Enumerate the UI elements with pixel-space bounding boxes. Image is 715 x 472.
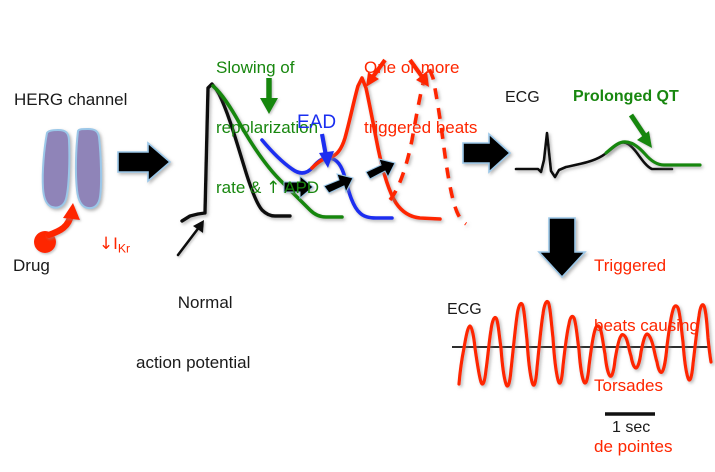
scale-bar-label: 1 sec bbox=[612, 419, 650, 438]
slowing-line-3-pre: rate & bbox=[216, 178, 266, 197]
normal-ap-pointer-icon bbox=[178, 220, 204, 255]
ikr-down-arrow-glyph: ↓ bbox=[99, 234, 113, 254]
herg-channel-icon bbox=[43, 129, 101, 208]
ead-arrow-icon bbox=[319, 134, 334, 168]
torsades-caption-line-4: de pointes bbox=[594, 437, 699, 457]
torsades-caption-line-1: Triggered bbox=[594, 256, 699, 276]
flow-arrow-1-icon bbox=[118, 143, 170, 181]
triggered-line-2: triggered beats bbox=[364, 118, 477, 138]
normal-ap-line-2: action potential bbox=[136, 353, 250, 373]
torsades-caption-line-3: Torsades bbox=[594, 376, 699, 396]
herg-channel-title: HERG channel bbox=[14, 90, 127, 110]
ecg-label-bottom: ECG bbox=[447, 301, 482, 320]
drug-molecule-icon bbox=[34, 203, 80, 253]
ikr-subscript: Kr bbox=[118, 241, 130, 255]
diagram-canvas: HERG channel Drug ↓IKr Slowing of repola… bbox=[0, 0, 715, 472]
prolonged-qt-label: Prolonged QT bbox=[573, 88, 679, 107]
slowing-line-1: Slowing of bbox=[216, 58, 319, 78]
slowing-line-3-post: APD bbox=[280, 178, 319, 197]
torsades-caption-line-2: beats causing bbox=[594, 316, 699, 336]
slowing-line-3: rate & ↑ APD bbox=[216, 178, 319, 198]
normal-ap-label: Normal action potential bbox=[160, 253, 250, 413]
ecg-label-top: ECG bbox=[505, 89, 540, 108]
normal-ap-line-1: Normal bbox=[160, 293, 250, 313]
ead-label: EAD bbox=[297, 112, 336, 134]
ecg-curve-prolonged-qt bbox=[606, 142, 700, 165]
triggered-beats-label: One or more triggered beats bbox=[364, 18, 477, 178]
ikr-label: ↓IKr bbox=[80, 214, 130, 276]
drug-label: Drug bbox=[13, 256, 50, 276]
flow-arrow-3-icon bbox=[539, 218, 585, 277]
triggered-line-1: One or more bbox=[364, 58, 477, 78]
apd-up-arrow-glyph: ↑ bbox=[266, 178, 280, 198]
